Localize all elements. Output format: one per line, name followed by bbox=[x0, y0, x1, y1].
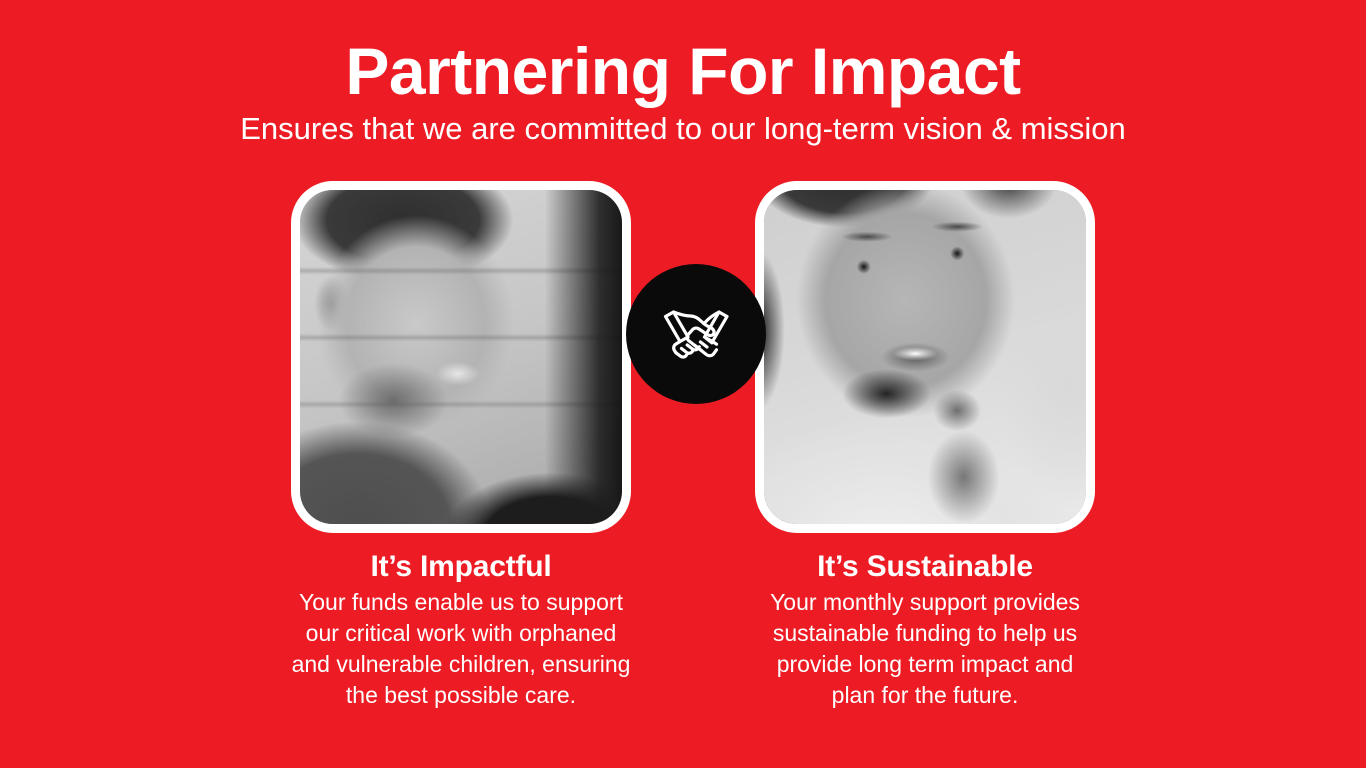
caption-body-impactful: Your funds enable us to support our crit… bbox=[291, 587, 631, 712]
photo-card-impactful bbox=[291, 181, 631, 533]
handshake-icon bbox=[650, 300, 742, 368]
caption-heading-impactful: It’s Impactful bbox=[291, 550, 631, 584]
column-impactful: It’s Impactful Your funds enable us to s… bbox=[291, 181, 631, 712]
slide-header: Partnering For Impact Ensures that we ar… bbox=[0, 38, 1366, 147]
caption-body-sustainable: Your monthly support provides sustainabl… bbox=[755, 587, 1095, 712]
slide-canvas: Partnering For Impact Ensures that we ar… bbox=[0, 0, 1366, 768]
column-sustainable: It’s Sustainable Your monthly support pr… bbox=[755, 181, 1095, 712]
caption-heading-sustainable: It’s Sustainable bbox=[755, 550, 1095, 584]
photo-child-profile bbox=[300, 190, 622, 524]
handshake-badge bbox=[626, 264, 766, 404]
caption-impactful: It’s Impactful Your funds enable us to s… bbox=[291, 550, 631, 712]
photo-child-smiling bbox=[764, 190, 1086, 524]
caption-sustainable: It’s Sustainable Your monthly support pr… bbox=[755, 550, 1095, 712]
page-title: Partnering For Impact bbox=[0, 38, 1366, 105]
page-subtitle: Ensures that we are committed to our lon… bbox=[0, 111, 1366, 147]
photo-card-sustainable bbox=[755, 181, 1095, 533]
